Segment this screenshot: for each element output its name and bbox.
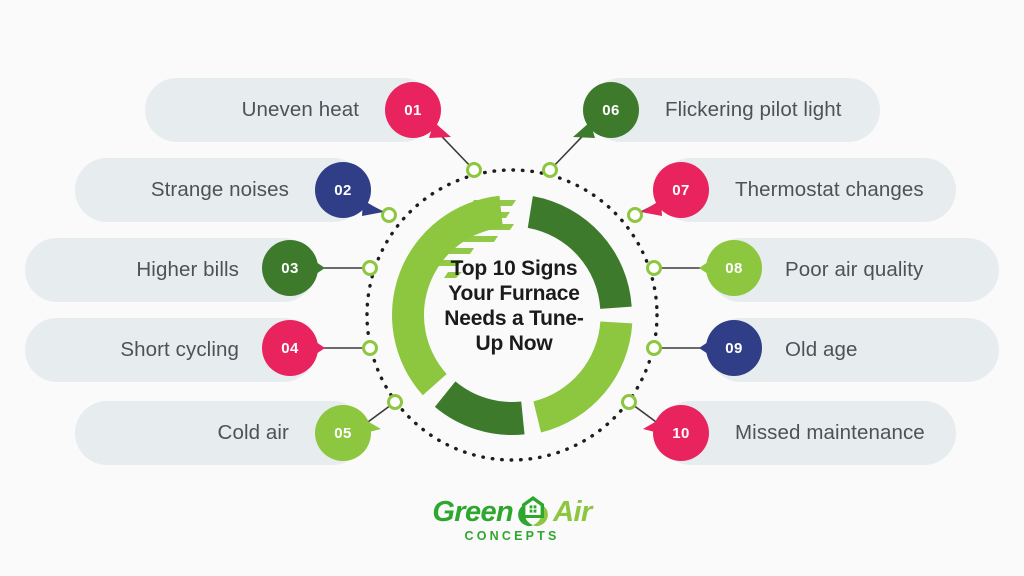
item-label-01: Uneven heat — [242, 98, 359, 122]
badge-number-10: 10 — [672, 425, 690, 442]
ring-marker-10 — [623, 396, 636, 409]
ring-marker-05 — [389, 396, 402, 409]
badge-number-05: 05 — [334, 425, 352, 442]
item-label-05: Cold air — [218, 421, 289, 445]
badge-05[interactable]: 05 — [315, 405, 371, 461]
badge-07[interactable]: 07 — [653, 162, 709, 218]
center-title: Top 10 Signs Your Furnace Needs a Tune- … — [428, 256, 600, 356]
badge-10[interactable]: 10 — [653, 405, 709, 461]
badge-03[interactable]: 03 — [262, 240, 318, 296]
badge-08[interactable]: 08 — [706, 240, 762, 296]
item-label-07: Thermostat changes — [735, 178, 924, 202]
infographic-canvas: Uneven heat Strange noises Higher bills … — [0, 0, 1024, 576]
house-leaf-icon — [513, 492, 553, 532]
badge-number-04: 04 — [281, 340, 299, 357]
badge-number-03: 03 — [281, 260, 299, 277]
item-label-06: Flickering pilot light — [665, 98, 842, 122]
ring-marker-08 — [648, 262, 661, 275]
center-title-line-3: Needs a Tune- — [428, 306, 600, 331]
ring-marker-04 — [364, 342, 377, 355]
ring-marker-03 — [364, 262, 377, 275]
item-label-02: Strange noises — [151, 178, 289, 202]
logo-subtitle: CONCEPTS — [0, 529, 1024, 543]
ring-marker-02 — [383, 209, 396, 222]
badge-number-08: 08 — [725, 260, 743, 277]
ring-marker-07 — [629, 209, 642, 222]
center-title-line-1: Top 10 Signs — [428, 256, 600, 281]
logo-word-air: Air — [553, 496, 592, 529]
ring-marker-09 — [648, 342, 661, 355]
badge-02[interactable]: 02 — [315, 162, 371, 218]
item-label-09: Old age — [785, 338, 858, 362]
brand-logo: Green Air CONCEPTS — [0, 492, 1024, 543]
logo-row: Green Air — [432, 492, 591, 532]
badge-09[interactable]: 09 — [706, 320, 762, 376]
badge-number-01: 01 — [404, 102, 422, 119]
badge-06[interactable]: 06 — [583, 82, 639, 138]
ring-marker-01 — [468, 164, 481, 177]
badge-number-02: 02 — [334, 182, 352, 199]
logo-word-green: Green — [432, 496, 513, 529]
center-title-line-2: Your Furnace — [428, 281, 600, 306]
badge-number-06: 06 — [602, 102, 620, 119]
badge-01[interactable]: 01 — [385, 82, 441, 138]
badge-04[interactable]: 04 — [262, 320, 318, 376]
ring-marker-06 — [544, 164, 557, 177]
item-label-04: Short cycling — [120, 338, 239, 362]
badge-number-07: 07 — [672, 182, 690, 199]
badge-number-09: 09 — [725, 340, 743, 357]
item-label-03: Higher bills — [136, 258, 239, 282]
item-label-10: Missed maintenance — [735, 421, 925, 445]
item-label-08: Poor air quality — [785, 258, 923, 282]
donut-segment-bottom — [435, 381, 525, 435]
center-title-line-4: Up Now — [428, 331, 600, 356]
